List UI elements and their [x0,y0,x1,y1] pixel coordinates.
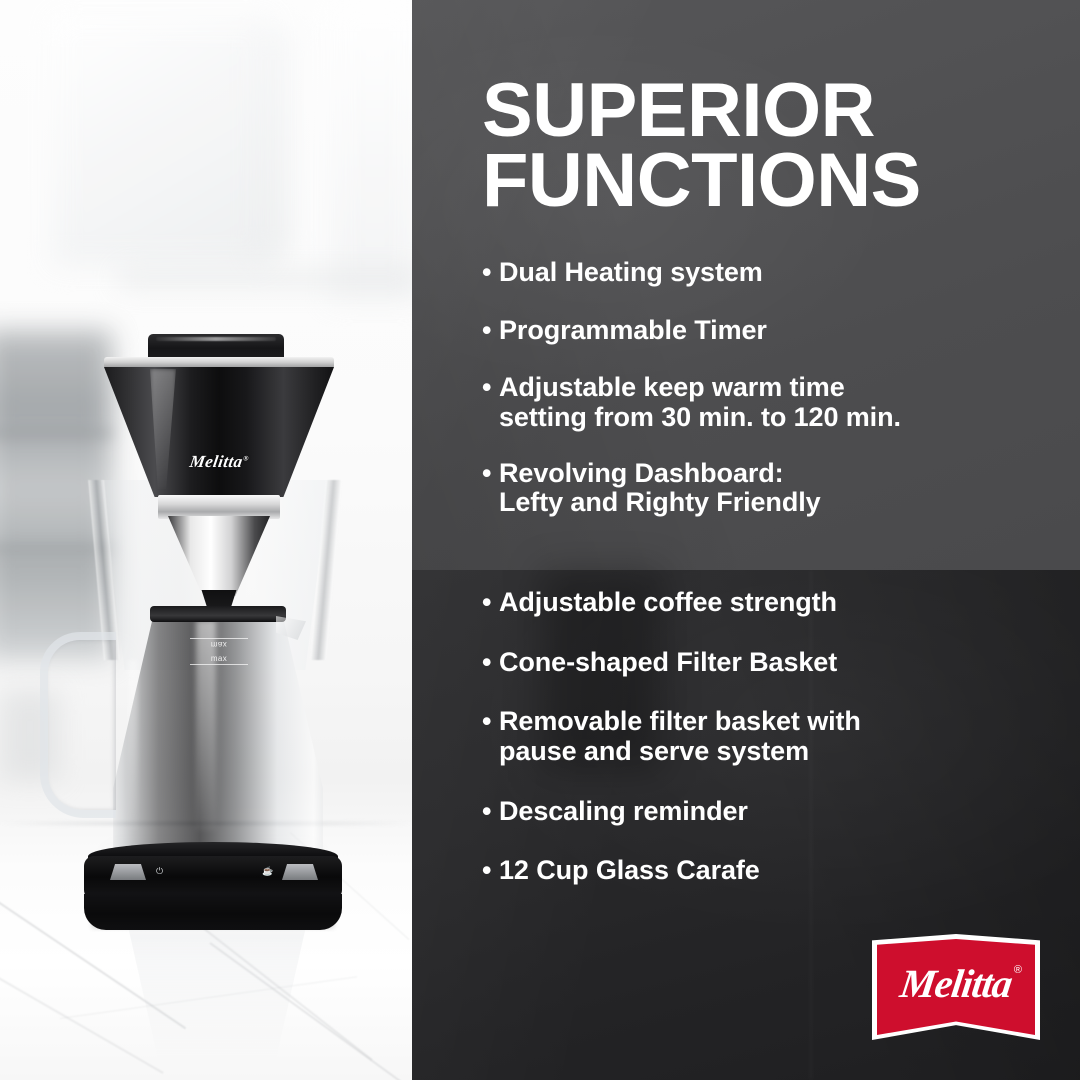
title-line-1: SUPERIOR [482,76,1062,146]
power-icon: ⏻ [156,866,163,877]
feature-text: Programmable Timer [499,315,767,345]
carafe-max-mark-lower: max [190,654,248,663]
feature-text: Adjustable keep warm time [499,372,845,402]
feature-text-line2: pause and serve system [499,737,1072,767]
carafe-lid [150,606,286,622]
list-item: Revolving Dashboard: Lefty and Righty Fr… [482,459,1072,518]
carafe-reflection [112,930,322,1060]
feature-list-upper: Dual Heating system Programmable Timer A… [482,258,1072,544]
feature-text: Descaling reminder [499,796,748,826]
carafe-highlight [196,620,216,830]
carafe-max-mark-upper: max [190,640,248,649]
product-photo-panel: Melitta® max max ⏻ ☕ [0,0,412,1080]
dashboard-button-right[interactable] [282,864,318,880]
feature-text: Revolving Dashboard: [499,458,784,488]
feature-text: Dual Heating system [499,257,763,287]
coffee-maker: Melitta® max max ⏻ ☕ [0,0,412,1080]
carafe-handle [40,632,116,818]
feature-text: Cone-shaped Filter Basket [499,647,837,677]
list-item: Adjustable coffee strength [482,588,1072,618]
list-item: Removable filter basket with pause and s… [482,707,1072,766]
list-item: Cone-shaped Filter Basket [482,648,1072,678]
cone-brand-name: Melitta [188,452,244,471]
list-item: Programmable Timer [482,316,1072,346]
melitta-logo: Melitta ® [872,934,1040,1040]
logo-registered-mark: ® [1014,964,1022,976]
lid-highlight [156,337,276,341]
title-line-2: FUNCTIONS [482,146,1062,216]
list-item: Dual Heating system [482,258,1072,288]
feature-content: SUPERIOR FUNCTIONS Dual Heating system P… [412,0,1080,1080]
list-item: Descaling reminder [482,797,1072,827]
feature-text: 12 Cup Glass Carafe [499,855,760,885]
cone-filter-holder [104,367,334,497]
cone-registered-mark: ® [243,454,250,462]
list-item: 12 Cup Glass Carafe [482,856,1072,886]
machine-base [84,894,342,930]
feature-text: Adjustable coffee strength [499,587,837,617]
cone-brand-logo: Melitta® [102,452,335,472]
page-title: SUPERIOR FUNCTIONS [482,76,1062,216]
list-item: Adjustable keep warm time setting from 3… [482,373,1072,432]
carafe-highlight-secondary [128,660,138,830]
coffee-cup-icon: ☕ [262,866,273,877]
poster-canvas: Melitta® max max ⏻ ☕ [0,0,1080,1080]
chrome-band [158,495,280,519]
dashboard-button-left[interactable] [110,864,146,880]
feature-text: Removable filter basket with [499,706,861,736]
feature-list-lower: Adjustable coffee strength Cone-shaped F… [482,588,1072,916]
feature-text-line2: setting from 30 min. to 120 min. [499,403,1072,433]
feature-text-line2: Lefty and Righty Friendly [499,488,1072,518]
feature-text-panel: SUPERIOR FUNCTIONS Dual Heating system P… [412,0,1080,1080]
